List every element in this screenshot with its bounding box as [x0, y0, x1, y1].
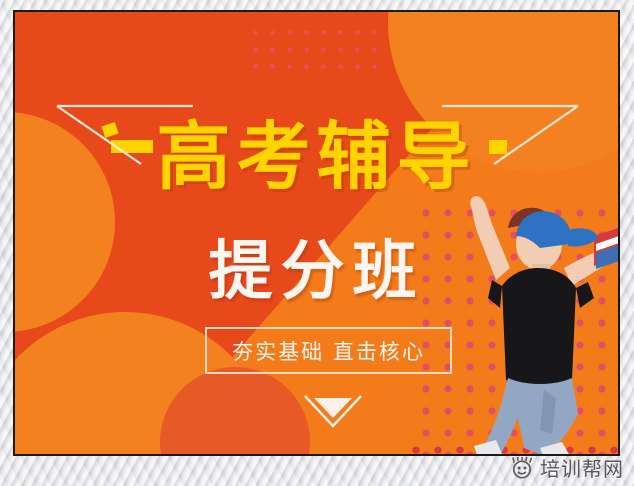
poster-headline: 高考辅导 [15, 120, 618, 194]
down-chevron-icon [303, 392, 363, 430]
tagline-text: 夯实基础 直击核心 [232, 336, 425, 366]
book-icon [594, 226, 618, 269]
tagline-box: 夯实基础 直击核心 [205, 327, 452, 374]
dot-grid-top-icon [247, 24, 387, 80]
poster-artwork: 高考辅导 提分班 夯实基础 直击核心 [15, 12, 618, 454]
smiley-sun-icon [510, 457, 534, 479]
jumping-student-figure [444, 190, 618, 454]
poster-frame: 高考辅导 提分班 夯实基础 直击核心 [13, 10, 620, 456]
page-canvas: 高考辅导 提分班 夯实基础 直击核心 [0, 0, 634, 486]
watermark-label: 培训帮网 [540, 453, 624, 482]
watermark: 培训帮网 [506, 451, 628, 484]
